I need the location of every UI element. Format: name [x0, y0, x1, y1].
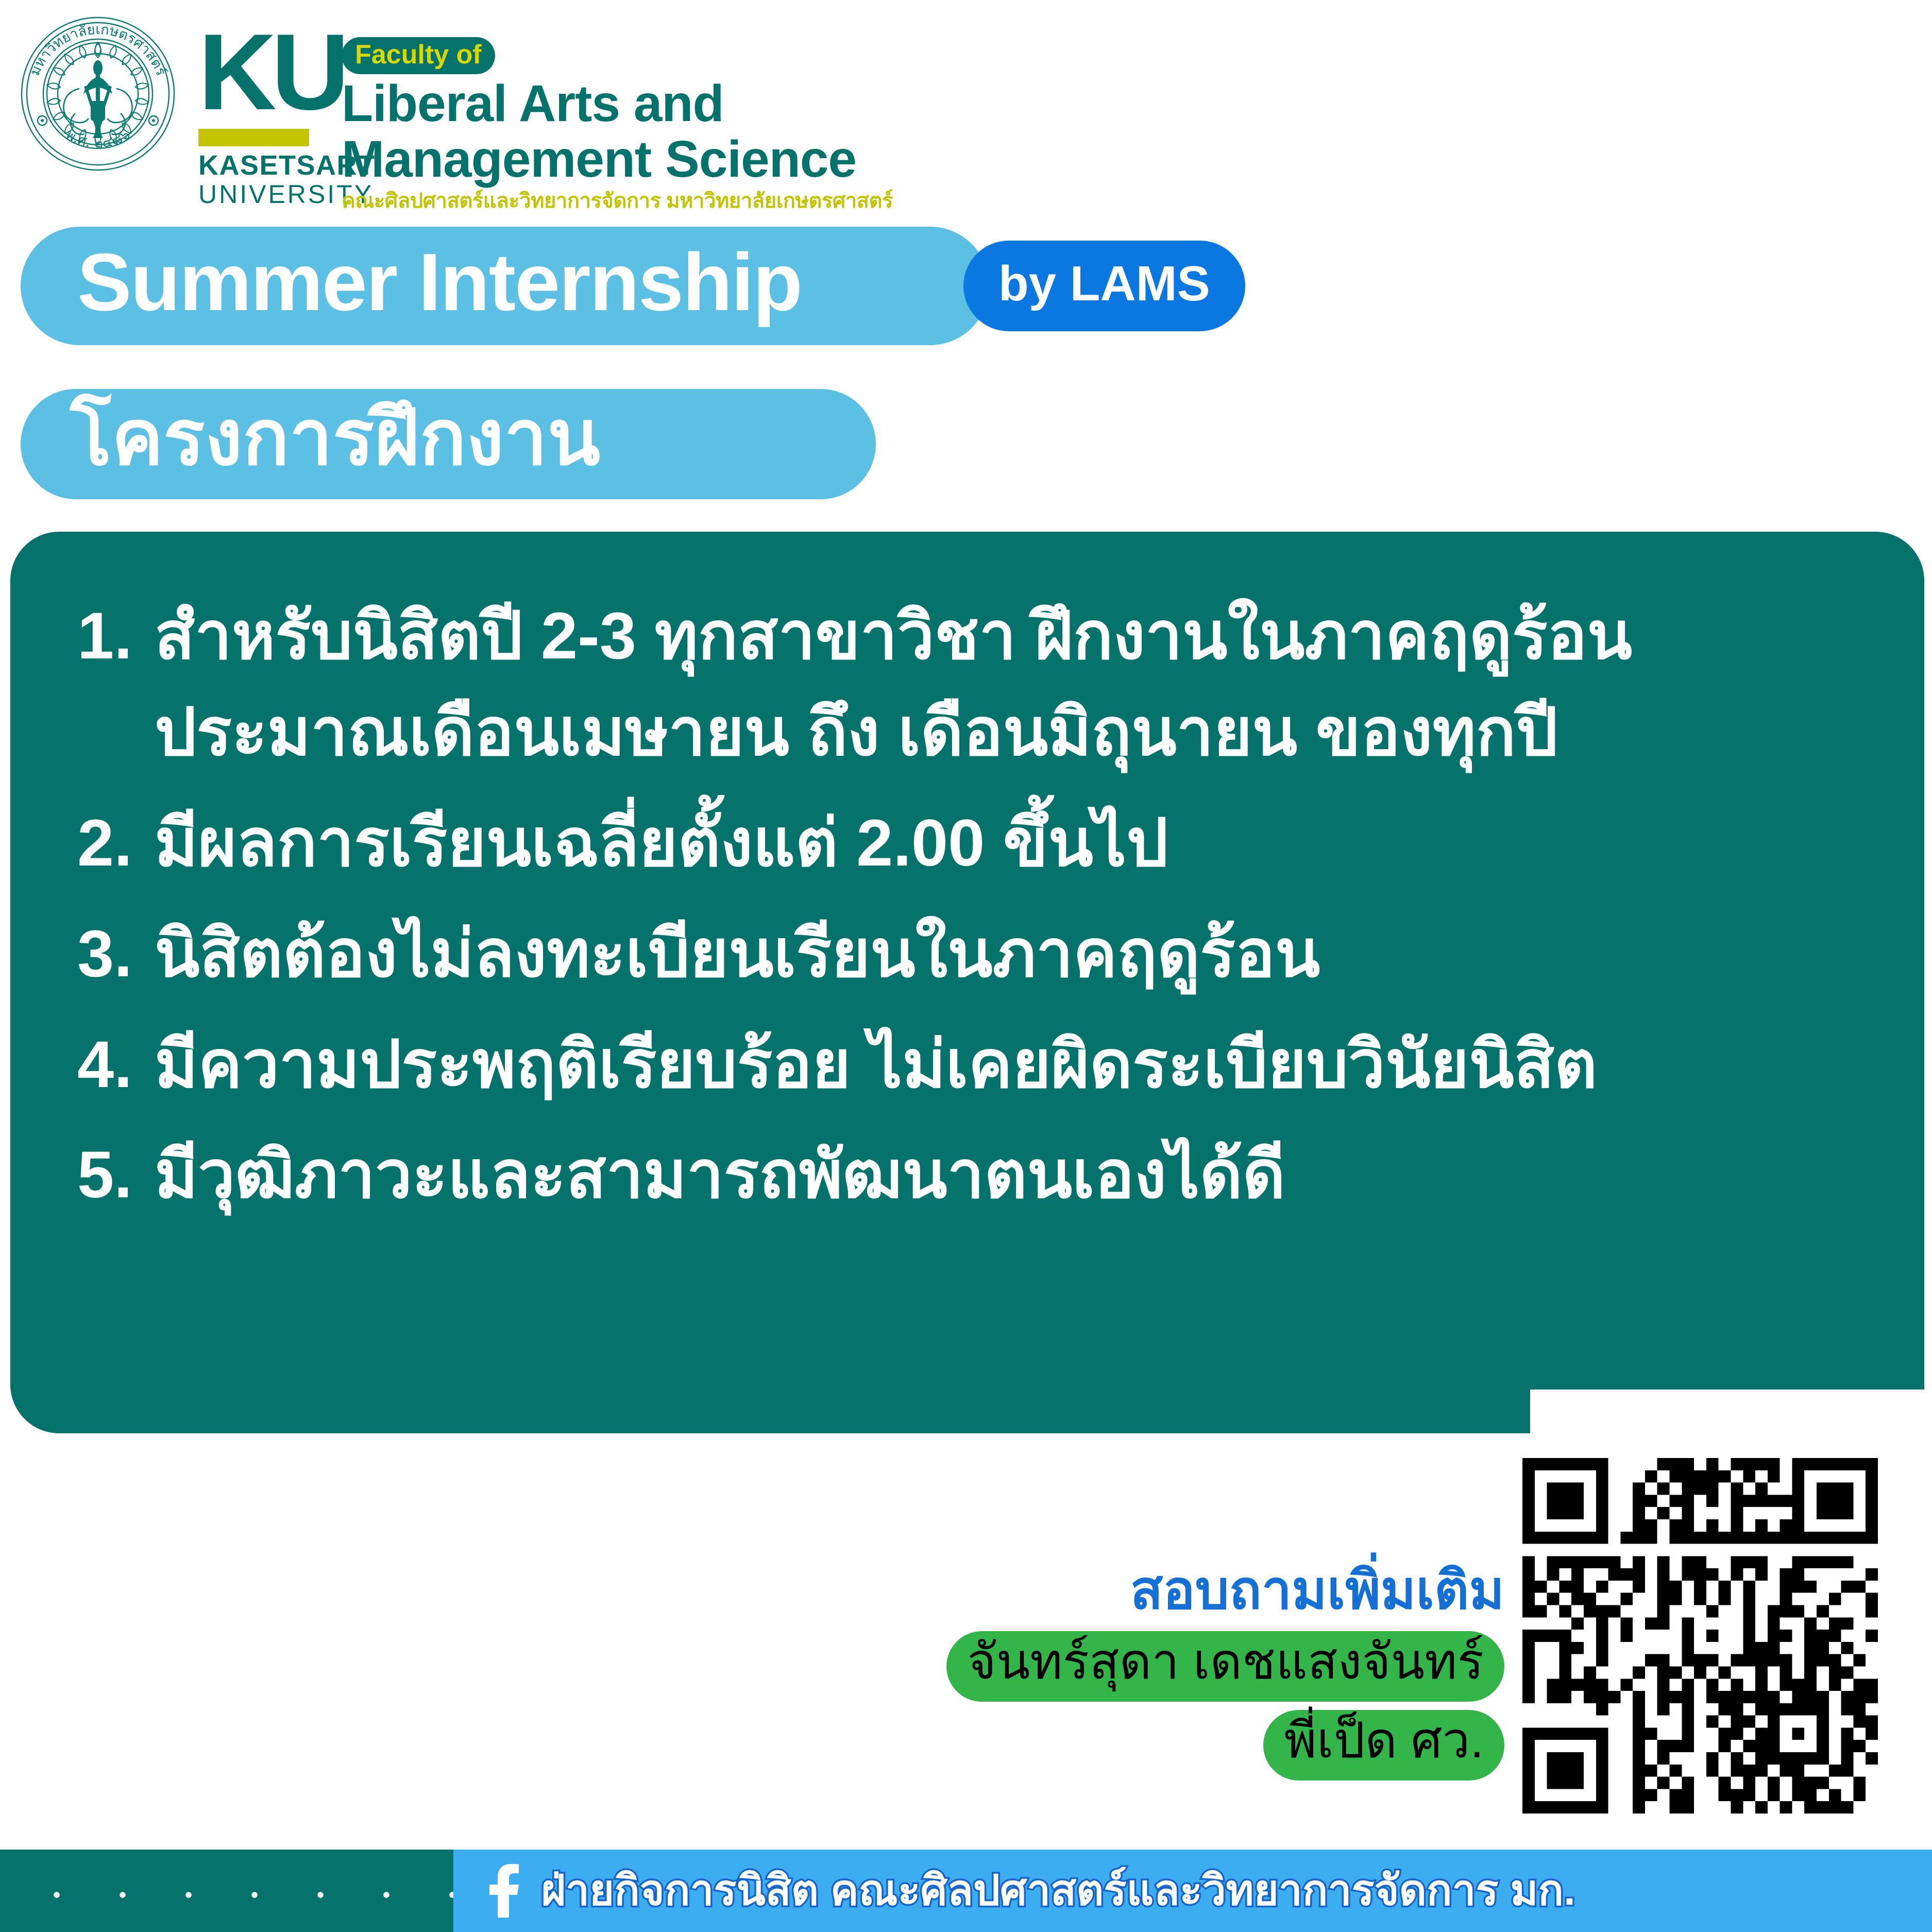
- contact-nickname-chip[interactable]: พี่เป็ด ศว.: [1263, 1710, 1504, 1781]
- title-pill-thai: โครงการฝึกงาน: [21, 389, 876, 499]
- faculty-of-badge: Faculty of: [342, 37, 495, 74]
- list-item-number: 5.: [77, 1127, 155, 1224]
- list-item-line1: มีวุฒิภาวะและสามารถพัฒนาตนเองได้ดี: [155, 1127, 1873, 1224]
- list-item-number: 3.: [77, 906, 155, 1003]
- brand-lockup: มหาวิทยาลัยเกษตรศาสตร์ พ.ศ. ๒๔๘๖ KU KASE…: [15, 10, 893, 211]
- contact-heading: สอบถามเพิ่มเติม: [922, 1561, 1504, 1620]
- qr-code[interactable]: [1522, 1458, 1878, 1814]
- title-pill-main: Summer Internship: [21, 227, 989, 345]
- contact-block: สอบถามเพิ่มเติม จันทร์สุดา เดชแสงจันทร์ …: [922, 1561, 1504, 1789]
- contact-person-chip[interactable]: จันทร์สุดา เดชแสงจันทร์: [946, 1631, 1504, 1702]
- requirements-panel-foot: [10, 1346, 1530, 1433]
- ku-letters: KU: [198, 30, 327, 114]
- footer-dot-pattern: [0, 1850, 453, 1932]
- poster-canvas: มหาวิทยาลัยเกษตรศาสตร์ พ.ศ. ๒๔๘๖ KU KASE…: [0, 0, 1932, 1932]
- kasetsart-seal-icon: มหาวิทยาลัยเกษตรศาสตร์ พ.ศ. ๒๔๘๖: [15, 10, 180, 175]
- list-item: 5. มีวุฒิภาวะและสามารถพัฒนาตนเองได้ดี: [0, 1127, 1914, 1224]
- footer-social-strip: ฝ่ายกิจการนิสิต คณะศิลปศาสตร์และวิทยาการ…: [453, 1850, 1932, 1932]
- contact-person-row: จันทร์สุดา เดชแสงจันทร์: [922, 1631, 1504, 1702]
- ku-wordmark: KU KASETSART UNIVERSITY: [198, 10, 327, 207]
- list-item-text: นิสิตต้องไม่ลงทะเบียนเรียนในภาคฤดูร้อน: [155, 906, 1873, 1003]
- list-item: 4. มีความประพฤติเรียบร้อย ไม่เคยผิดระเบี…: [0, 1017, 1914, 1113]
- requirements-list: 1. สำหรับนิสิตปี 2-3 ทุกสาขาวิชา ฝึกงานใ…: [0, 532, 1914, 1224]
- list-item-line1: มีผลการเรียนเฉลี่ยตั้งแต่ 2.00 ขึ้นไป: [155, 795, 1873, 892]
- ku-kasetsart-label: KASETSART: [198, 151, 327, 179]
- list-item-text: สำหรับนิสิตปี 2-3 ทุกสาขาวิชา ฝึกงานในภา…: [155, 588, 1873, 781]
- list-item-line1: สำหรับนิสิตปี 2-3 ทุกสาขาวิชา ฝึกงานในภา…: [155, 588, 1873, 685]
- by-lams-label: by LAMS: [998, 259, 1210, 309]
- faculty-block: Faculty of Liberal Arts and Management S…: [342, 10, 893, 211]
- list-item-text: มีวุฒิภาวะและสามารถพัฒนาตนเองได้ดี: [155, 1127, 1873, 1224]
- footer-bar: ฝ่ายกิจการนิสิต คณะศิลปศาสตร์และวิทยาการ…: [0, 1850, 1932, 1932]
- ku-university-label: UNIVERSITY: [198, 181, 327, 207]
- page-title: Summer Internship: [77, 238, 933, 328]
- ku-olive-rule: [198, 129, 309, 146]
- title-badge-by-lams: by LAMS: [963, 241, 1245, 331]
- list-item-text: มีความประพฤติเรียบร้อย ไม่เคยผิดระเบียบว…: [155, 1017, 1873, 1113]
- list-gap: [0, 1003, 1914, 1017]
- list-item-number: 4.: [77, 1017, 155, 1113]
- list-item-line2: ประมาณเดือนเมษายน ถึง เดือนมิถุนายน ของท…: [155, 685, 1873, 781]
- list-gap: [0, 892, 1914, 906]
- list-item-line1: นิสิตต้องไม่ลงทะเบียนเรียนในภาคฤดูร้อน: [155, 906, 1873, 1003]
- list-item-text: มีผลการเรียนเฉลี่ยตั้งแต่ 2.00 ขึ้นไป: [155, 795, 1873, 892]
- footer-page-name[interactable]: ฝ่ายกิจการนิสิต คณะศิลปศาสตร์และวิทยาการ…: [541, 1870, 1575, 1912]
- list-item: 3. นิสิตต้องไม่ลงทะเบียนเรียนในภาคฤดูร้อ…: [0, 906, 1914, 1003]
- list-item: 1. สำหรับนิสิตปี 2-3 ทุกสาขาวิชา ฝึกงานใ…: [0, 588, 1914, 781]
- contact-nickname-row: พี่เป็ด ศว.: [922, 1710, 1504, 1781]
- list-gap: [0, 1113, 1914, 1127]
- facebook-icon[interactable]: [489, 1864, 519, 1918]
- page-title-thai: โครงการฝึกงาน: [70, 397, 826, 479]
- faculty-name-thai: คณะศิลปศาสตร์และวิทยาการจัดการ มหาวิทยาล…: [342, 191, 893, 211]
- faculty-name-line1: Liberal Arts and: [342, 77, 893, 130]
- list-item: 2. มีผลการเรียนเฉลี่ยตั้งแต่ 2.00 ขึ้นไป: [0, 795, 1914, 892]
- list-gap: [0, 781, 1914, 795]
- list-item-number: 2.: [77, 795, 155, 892]
- list-item-line1: มีความประพฤติเรียบร้อย ไม่เคยผิดระเบียบว…: [155, 1017, 1873, 1113]
- list-item-number: 1.: [77, 588, 155, 781]
- faculty-name-line2: Management Science: [342, 133, 893, 185]
- title-pill-row: Summer Internship by LAMS: [21, 227, 1245, 345]
